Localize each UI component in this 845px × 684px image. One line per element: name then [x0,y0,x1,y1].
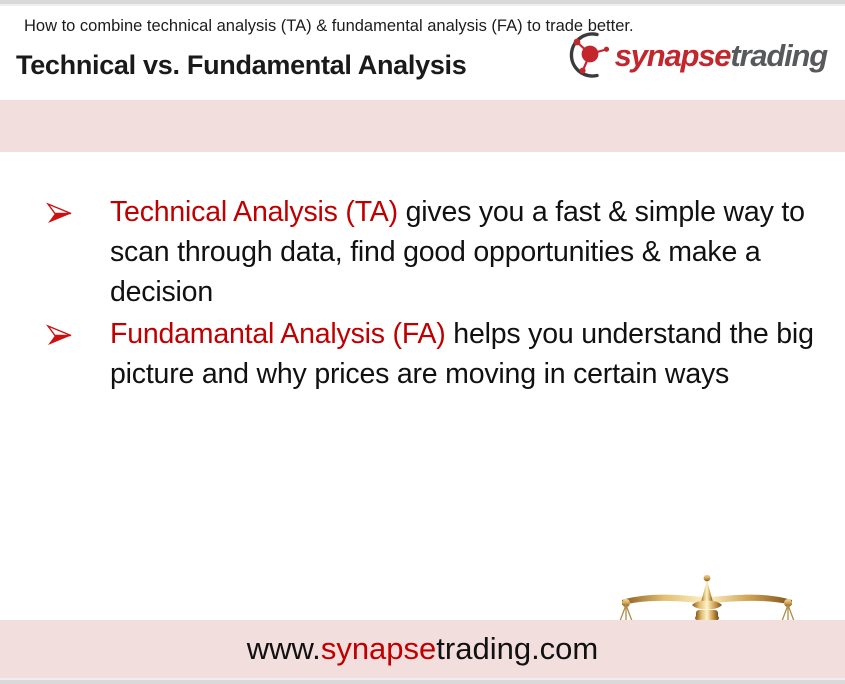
bullet-list: Technical Analysis (TA) gives you a fast… [0,192,845,396]
slide-canvas: Technical vs. Fundamental Analysis [0,0,845,684]
list-item-emphasis: Technical Analysis (TA) [110,196,398,228]
subtitle-text: How to combine technical analysis (TA) &… [24,0,634,52]
subtitle-band [0,100,845,152]
brand-logo-word-trading: trading [730,38,827,73]
red-arrow-bullet-icon [44,320,78,350]
footer-url-brand: synapse [321,631,436,667]
brand-logo-wordmark: synapsetrading [615,40,827,71]
footer-website-url[interactable]: www.synapsetrading.com [0,620,845,678]
page-title: Technical vs. Fundamental Analysis [16,50,466,81]
list-item: Technical Analysis (TA) gives you a fast… [0,192,845,312]
footer-url-suffix: trading.com [436,631,598,667]
list-item-text: Fundamantal Analysis (FA) helps you unde… [110,314,815,394]
bottom-edge-strip-highlight [0,678,845,680]
list-item: Fundamantal Analysis (FA) helps you unde… [0,314,845,394]
red-arrow-bullet-icon [44,198,78,228]
list-item-emphasis: Fundamantal Analysis (FA) [110,318,446,350]
footer-url-prefix: www. [247,631,321,667]
list-item-text: Technical Analysis (TA) gives you a fast… [110,192,815,312]
slide-body: Technical Analysis (TA) gives you a fast… [0,152,845,620]
